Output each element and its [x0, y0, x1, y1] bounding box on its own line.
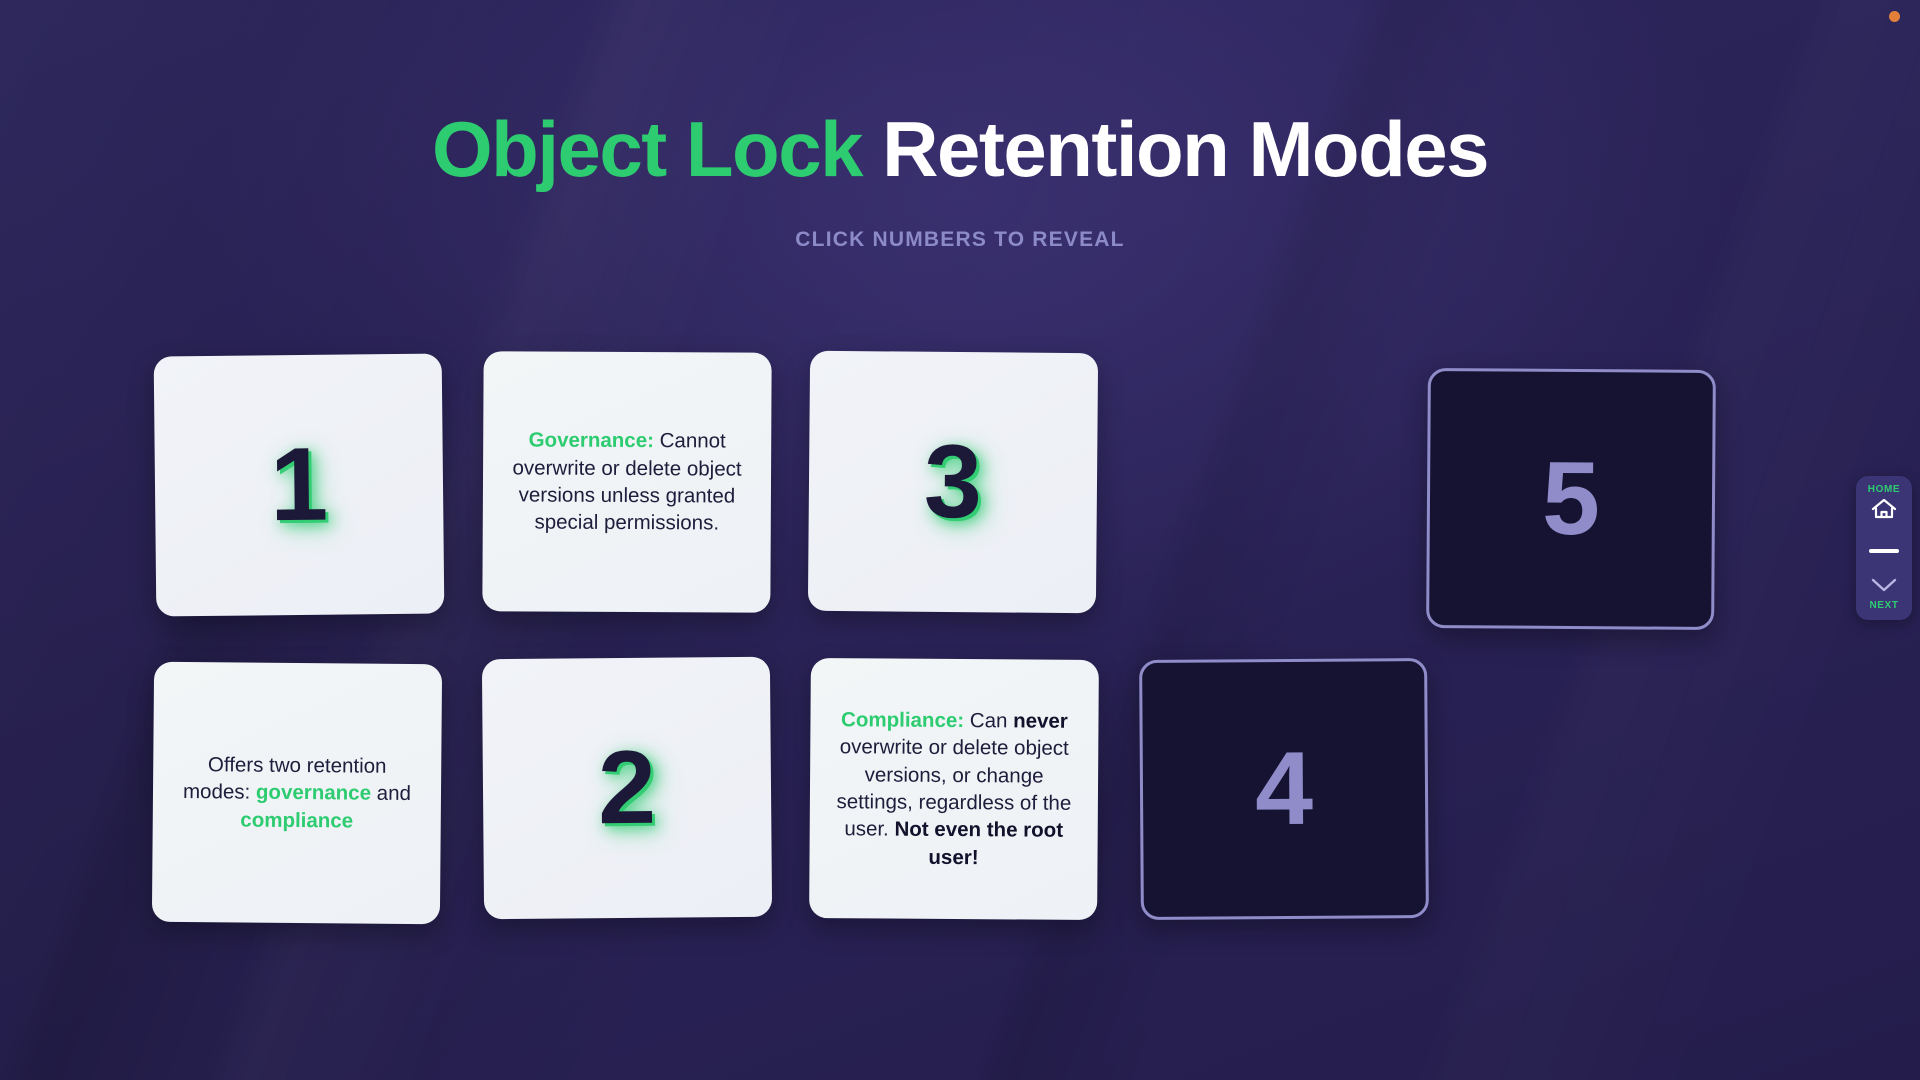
compliance-label: Compliance:: [841, 708, 964, 732]
intro-text: Offers two retention modes: governance a…: [175, 751, 420, 836]
intro-line-3-plain: and: [377, 782, 411, 805]
compliance-card[interactable]: Compliance: Can never overwrite or delet…: [809, 658, 1099, 920]
number-card-4[interactable]: 4: [1139, 658, 1429, 920]
number-card-2[interactable]: 2: [482, 657, 772, 920]
compliance-closing: Not even the root user!: [894, 818, 1063, 869]
subtitle: CLICK NUMBERS TO REVEAL: [0, 228, 1920, 252]
card-grid: 1 Governance: Cannot overwrite or delete…: [155, 355, 1455, 955]
header: Object Lock Retention Modes CLICK NUMBER…: [0, 0, 1920, 252]
page-title-rest: Retention Modes: [862, 105, 1488, 193]
card-number: 5: [1542, 447, 1601, 551]
slide-stage: Object Lock Retention Modes CLICK NUMBER…: [0, 0, 1920, 1080]
governance-label: Governance:: [529, 429, 654, 453]
divider: [1869, 549, 1899, 553]
home-button[interactable]: HOME: [1868, 485, 1900, 525]
number-card-1[interactable]: 1: [154, 353, 445, 616]
intro-line-1: Offers two retention: [208, 753, 387, 778]
card-number: 4: [1255, 737, 1314, 841]
home-label: HOME: [1868, 485, 1900, 495]
navigation-rail: HOME NEXT: [1856, 476, 1912, 620]
governance-text: Governance: Cannot overwrite or delete o…: [505, 426, 750, 537]
number-card-3[interactable]: 3: [808, 351, 1098, 614]
intro-accent-compliance: compliance: [240, 808, 353, 832]
compliance-text: Compliance: Can never overwrite or delet…: [831, 706, 1076, 873]
governance-card[interactable]: Governance: Cannot overwrite or delete o…: [482, 351, 771, 613]
page-title-accent: Object Lock: [432, 105, 862, 193]
intro-line-2-plain: modes:: [183, 780, 256, 804]
compliance-emphasis: never: [1013, 709, 1068, 732]
number-card-5[interactable]: 5: [1426, 368, 1716, 630]
compliance-body-a: Can: [964, 709, 1013, 732]
card-number: 2: [598, 736, 657, 841]
intro-accent-governance: governance: [256, 781, 371, 805]
card-number: 3: [924, 430, 983, 535]
home-icon: [1871, 498, 1897, 525]
card-number: 1: [270, 433, 329, 538]
next-button[interactable]: NEXT: [1869, 577, 1898, 611]
chevron-down-icon: [1870, 577, 1898, 598]
intro-card[interactable]: Offers two retention modes: governance a…: [152, 662, 442, 925]
page-title: Object Lock Retention Modes: [0, 110, 1920, 188]
next-label: NEXT: [1869, 601, 1898, 611]
